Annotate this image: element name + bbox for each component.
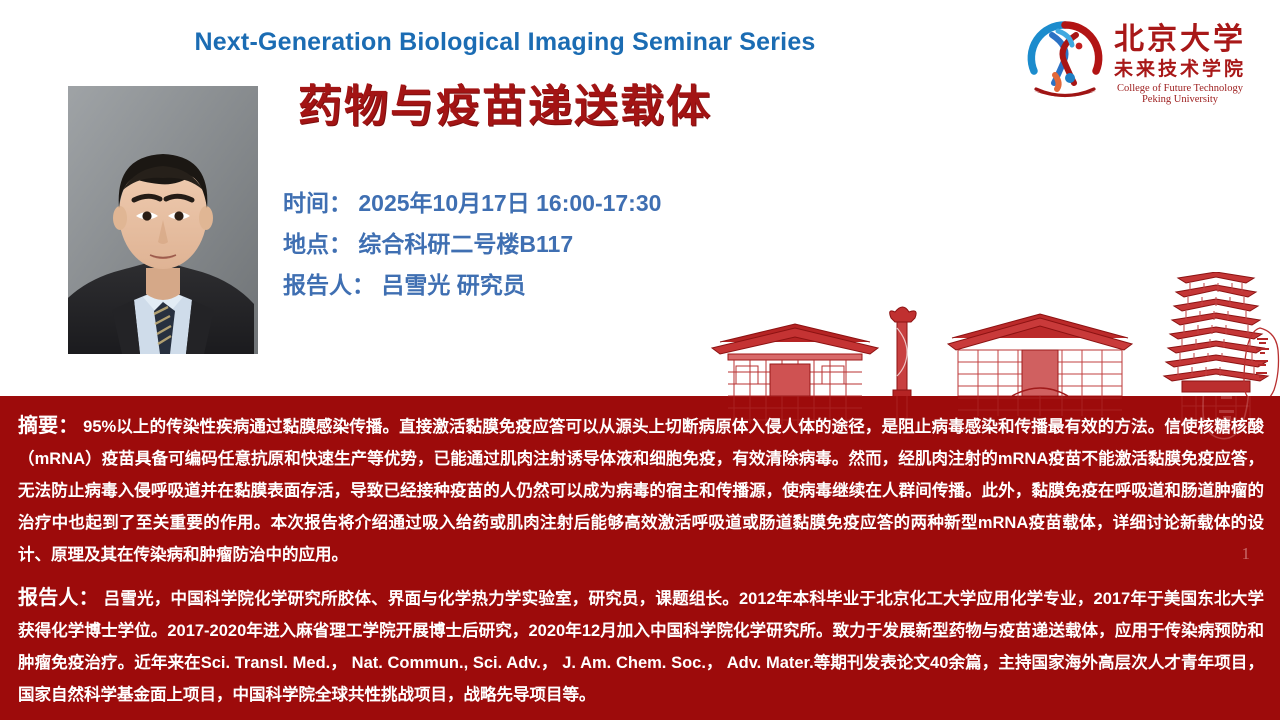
- speaker-bio-body: 吕雪光，中国科学院化学研究所胶体、界面与化学热力学实验室，研究员，课题组长。20…: [18, 590, 1264, 704]
- page-number: 1: [1242, 544, 1251, 564]
- seminar-poster: 北京大学 未来技术学院 College of Future Technology…: [0, 0, 1280, 720]
- speaker-portrait: [68, 86, 258, 354]
- event-details: 时间： 2025年10月17日 16:00-17:30 地点： 综合科研二号楼B…: [283, 183, 661, 306]
- logo-college-name: 未来技术学院: [1114, 60, 1246, 79]
- speaker-bio-label: 报告人：: [18, 587, 99, 609]
- poster-content-band: 摘要： 95%以上的传染性疾病通过黏膜感染传播。直接激活黏膜免疫应答可以从源头上…: [0, 396, 1280, 720]
- event-speaker: 报告人： 吕雪光 研究员: [283, 265, 661, 306]
- abstract-body: 95%以上的传染性疾病通过黏膜感染传播。直接激活黏膜免疫应答可以从源头上切断病原…: [18, 418, 1264, 564]
- event-location: 地点： 综合科研二号楼B117: [283, 224, 661, 265]
- abstract-label: 摘要：: [18, 415, 78, 437]
- dna-helix-emblem-icon: [1022, 19, 1108, 109]
- pku-future-technology-logo: 北京大学 未来技术学院 College of Future Technology…: [1022, 14, 1272, 114]
- pku-landmarks-watermark: [690, 272, 1280, 396]
- speaker-bio-paragraph: 报告人： 吕雪光，中国科学院化学研究所胶体、界面与化学热力学实验室，研究员，课题…: [18, 582, 1264, 711]
- event-time: 时间： 2025年10月17日 16:00-17:30: [283, 183, 661, 224]
- poster-header-area: 北京大学 未来技术学院 College of Future Technology…: [0, 0, 1280, 396]
- abstract-paragraph: 摘要： 95%以上的传染性疾病通过黏膜感染传播。直接激活黏膜免疫应答可以从源头上…: [18, 410, 1264, 571]
- logo-university-name-en: Peking University: [1142, 95, 1218, 106]
- logo-wordmark: 北京大学 未来技术学院 College of Future Technology…: [1114, 23, 1246, 106]
- logo-university-name: 北京大学: [1114, 25, 1246, 55]
- logo-college-name-en: College of Future Technology: [1117, 84, 1243, 95]
- seminar-series-title: Next-Generation Biological Imaging Semin…: [0, 28, 1010, 57]
